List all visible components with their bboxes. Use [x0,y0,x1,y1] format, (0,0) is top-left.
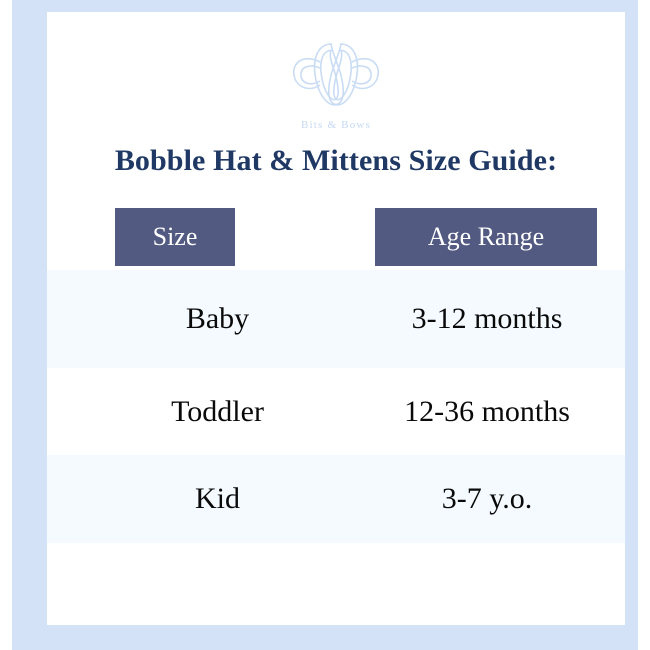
size-guide-table: Size Age Range Baby 3-12 months Toddler … [47,208,625,543]
table-row: Kid 3-7 y.o. [47,455,625,543]
cell-size: Kid [115,482,320,516]
outer-border-frame: Bits & Bows Bobble Hat & Mittens Size Gu… [12,0,638,650]
table-row: Baby 3-12 months [47,270,625,368]
table-row: Toddler 12-36 months [47,368,625,455]
column-header-age-range: Age Range [375,208,597,266]
bits-and-bows-monogram-icon [286,32,386,117]
brand-wordmark: Bits & Bows [47,119,625,131]
cell-size: Toddler [115,395,320,429]
cell-age-range: 12-36 months [342,395,625,429]
size-guide-card: Bits & Bows Bobble Hat & Mittens Size Gu… [47,12,625,625]
cell-age-range: 3-7 y.o. [342,482,625,516]
table-header-row: Size Age Range [47,208,625,270]
page-title: Bobble Hat & Mittens Size Guide: [47,144,625,178]
cell-age-range: 3-12 months [342,302,625,336]
brand-logo: Bits & Bows [47,32,625,131]
cell-size: Baby [115,302,320,336]
column-header-size: Size [115,208,235,266]
